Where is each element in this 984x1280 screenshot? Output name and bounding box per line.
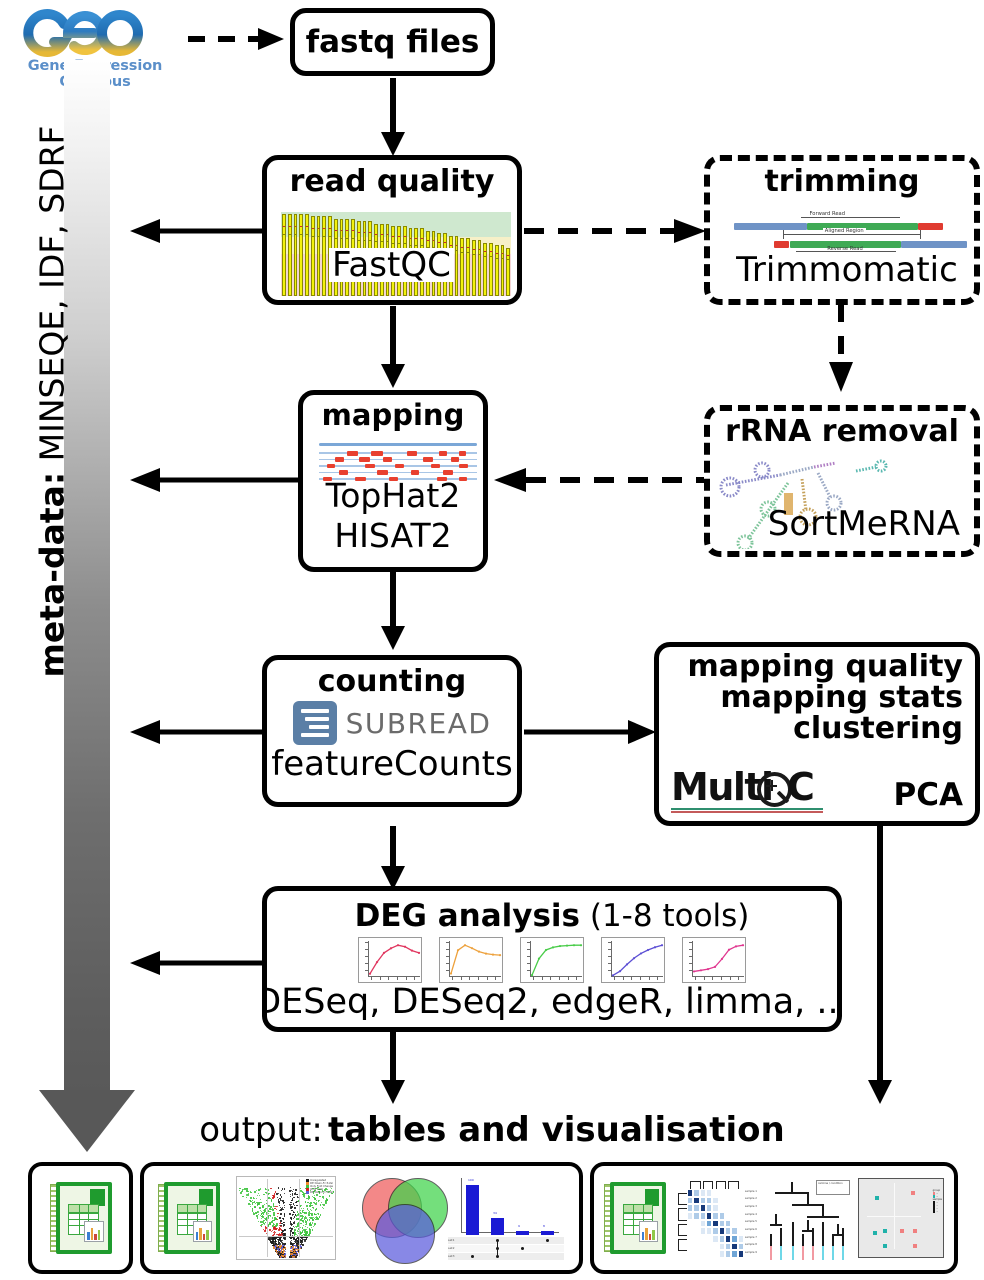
deg-mini-chart bbox=[520, 937, 584, 983]
node-rrna-removal-tool: SortMeRNA bbox=[768, 507, 960, 541]
node-counting[interactable]: counting SUBREAD featureCounts bbox=[262, 655, 522, 807]
arrow-trimming-to-rrna bbox=[825, 304, 857, 396]
node-mapping-tool-1: TopHat2 bbox=[303, 479, 483, 512]
node-fastq-files[interactable]: fastq files bbox=[290, 8, 495, 76]
arrow-counting-to-multiqc bbox=[524, 717, 658, 747]
mapping-read-pileup-figure bbox=[319, 443, 477, 479]
node-multiqc-line-2: mapping stats bbox=[720, 683, 963, 713]
arrow-mapping-to-counting bbox=[377, 572, 409, 652]
arrow-counting-to-metadata bbox=[130, 717, 262, 747]
deg-mini-charts bbox=[358, 937, 746, 983]
geo-logo-mark bbox=[2, 2, 188, 62]
node-fastq-files-title: fastq files bbox=[306, 27, 480, 58]
multiqc-underline-1 bbox=[671, 808, 823, 810]
multiqc-wordmark-c: C bbox=[787, 765, 813, 809]
deg-mini-chart bbox=[439, 937, 503, 983]
deg-mini-chart bbox=[358, 937, 422, 983]
metadata-arrow-label: meta-data: MINSEQE, IDF, SDRF bbox=[36, 0, 69, 852]
node-deg-analysis[interactable]: DEG analysis (1-8 tools) DESeq, DESeq2, … bbox=[262, 886, 842, 1032]
dendrogram: cell-line / condition bbox=[764, 1176, 852, 1260]
venn-diagram bbox=[348, 1174, 440, 1262]
node-read-quality-title: read quality bbox=[290, 167, 495, 197]
deg-mini-chart bbox=[682, 937, 746, 983]
node-read-quality-tool: FastQC bbox=[329, 248, 454, 282]
metadata-label-rest: MINSEQE, IDF, SDRF bbox=[33, 126, 72, 472]
calc-icon bbox=[604, 1182, 666, 1254]
node-deg-title: DEG analysis bbox=[355, 898, 580, 934]
arrow-readquality-to-trimming bbox=[524, 216, 710, 246]
arrow-geo-to-fastq bbox=[186, 24, 290, 54]
arrow-readquality-to-metadata bbox=[130, 216, 262, 246]
deg-mini-chart bbox=[601, 937, 665, 983]
panel-tables[interactable] bbox=[28, 1162, 133, 1274]
correlation-heatmap: sample 1sample 2sample 3sample 4sample 5… bbox=[674, 1176, 758, 1260]
node-trimming-title: trimming bbox=[764, 167, 919, 197]
node-trimming[interactable]: trimming Forward ReadAligned RegionRever… bbox=[704, 155, 980, 305]
node-multiqc-line-3: clustering bbox=[793, 714, 963, 744]
pca-plot: group----sample-------- bbox=[858, 1178, 944, 1258]
multiqc-underline-2 bbox=[671, 811, 823, 813]
arrow-fastq-to-readquality bbox=[377, 78, 409, 158]
arrow-readquality-to-mapping bbox=[377, 306, 409, 390]
node-read-quality[interactable]: read quality FastQC bbox=[262, 155, 522, 305]
node-multiqc-pca-label: PCA bbox=[894, 780, 963, 811]
subread-icon bbox=[293, 701, 337, 745]
node-multiqc-line-1: mapping quality bbox=[687, 652, 963, 682]
node-mapping-title: mapping bbox=[322, 401, 465, 430]
node-trimming-tool: Trimmomatic bbox=[724, 253, 970, 287]
volcano-plot: UnregulatedDE Down-Fc P-ValOnly Fold Cha… bbox=[236, 1176, 336, 1260]
arrow-mapping-to-metadata bbox=[130, 465, 298, 495]
node-mapping[interactable]: mapping TopHat2 HISAT2 bbox=[298, 390, 488, 572]
arrow-rrna-to-mapping bbox=[494, 465, 706, 495]
calc-icon bbox=[158, 1182, 220, 1254]
arrow-deg-to-metadata bbox=[130, 948, 262, 978]
subread-wordmark: SUBREAD bbox=[346, 707, 492, 740]
upset-plot: 1003498set1set2set3 bbox=[448, 1175, 564, 1261]
arrow-counting-to-deg bbox=[377, 826, 409, 892]
trimming-read-figure: Forward ReadAligned RegionReverse Read bbox=[734, 211, 956, 253]
node-deg-tools: DESeq, DESeq2, edgeR, limma, ... bbox=[262, 985, 842, 1020]
multiqc-logo: Multi C bbox=[671, 767, 839, 813]
arrow-deg-to-output bbox=[377, 1030, 409, 1106]
node-rrna-removal[interactable]: rRNA removal SortMeRNA bbox=[704, 405, 980, 557]
node-deg-title-suffix: (1-8 tools) bbox=[580, 898, 749, 934]
node-rrna-removal-title: rRNA removal bbox=[725, 417, 959, 447]
arrow-multiqc-to-output bbox=[864, 826, 896, 1106]
metadata-label-bold: meta-data: bbox=[33, 472, 72, 678]
calc-icon bbox=[50, 1182, 112, 1254]
output-label-prefix: output: bbox=[199, 1110, 323, 1150]
panel-plots[interactable]: UnregulatedDE Down-Fc P-ValOnly Fold Cha… bbox=[140, 1162, 583, 1274]
node-multiqc[interactable]: mapping quality mapping stats clustering… bbox=[654, 642, 980, 826]
panel-cluster[interactable]: sample 1sample 2sample 3sample 4sample 5… bbox=[590, 1162, 958, 1274]
output-label: output: tables and visualisation bbox=[0, 1110, 984, 1150]
output-label-bold: tables and visualisation bbox=[328, 1110, 785, 1150]
node-counting-title: counting bbox=[318, 667, 467, 697]
node-counting-tool: featureCounts bbox=[271, 747, 512, 781]
node-mapping-tool-2: HISAT2 bbox=[303, 519, 483, 552]
subread-logo: SUBREAD bbox=[293, 701, 492, 745]
